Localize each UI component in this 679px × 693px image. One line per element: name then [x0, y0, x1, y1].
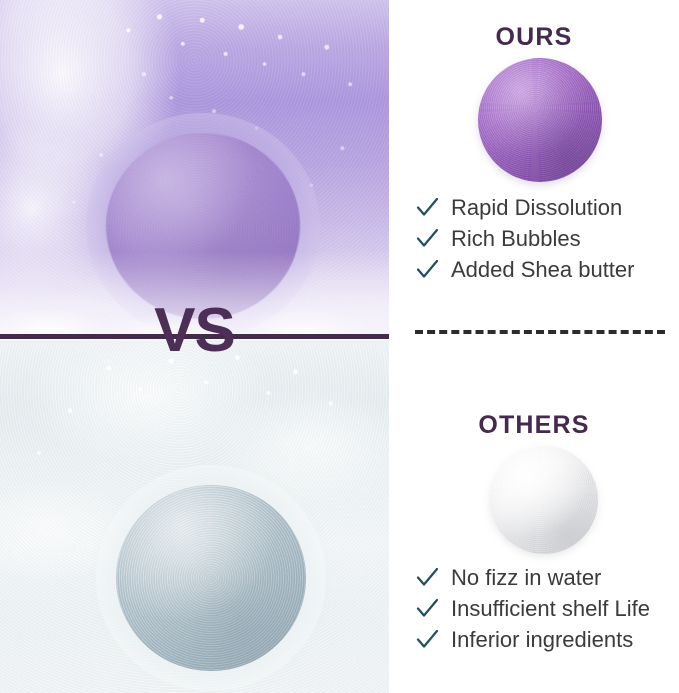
- vs-label: VS: [0, 300, 389, 362]
- feature-label: Inferior ingredients: [451, 627, 633, 653]
- comparison-infographic: VS OURS OTHERS Rapid Dissolution Rich Bu…: [0, 0, 679, 693]
- section-divider: [415, 330, 665, 334]
- feature-label: Rich Bubbles: [451, 226, 581, 252]
- check-icon: [414, 595, 441, 622]
- check-icon: [414, 256, 441, 283]
- ours-heading: OURS: [389, 22, 679, 52]
- list-item: Rapid Dissolution: [414, 192, 679, 223]
- ours-product-ball: [478, 58, 602, 182]
- others-feature-list: No fizz in water Insufficient shelf Life…: [414, 562, 679, 655]
- feature-label: No fizz in water: [451, 565, 601, 591]
- others-heading: OTHERS: [389, 410, 679, 440]
- check-icon: [414, 194, 441, 221]
- feature-label: Rapid Dissolution: [451, 195, 622, 221]
- check-icon: [414, 225, 441, 252]
- others-product-ball: [490, 446, 598, 554]
- check-icon: [414, 626, 441, 653]
- list-item: No fizz in water: [414, 562, 679, 593]
- photo-panel: VS: [0, 0, 389, 693]
- list-item: Inferior ingredients: [414, 624, 679, 655]
- check-icon: [414, 564, 441, 591]
- list-item: Insufficient shelf Life: [414, 593, 679, 624]
- ours-feature-list: Rapid Dissolution Rich Bubbles Added She…: [414, 192, 679, 285]
- grey-bath-bomb-in-water-photo: [0, 340, 389, 693]
- feature-label: Added Shea butter: [451, 257, 634, 283]
- feature-label: Insufficient shelf Life: [451, 596, 650, 622]
- grey-bomb: [116, 485, 306, 671]
- purple-bath-bomb-dissolving-photo: [0, 0, 389, 337]
- list-item: Rich Bubbles: [414, 223, 679, 254]
- list-item: Added Shea butter: [414, 254, 679, 285]
